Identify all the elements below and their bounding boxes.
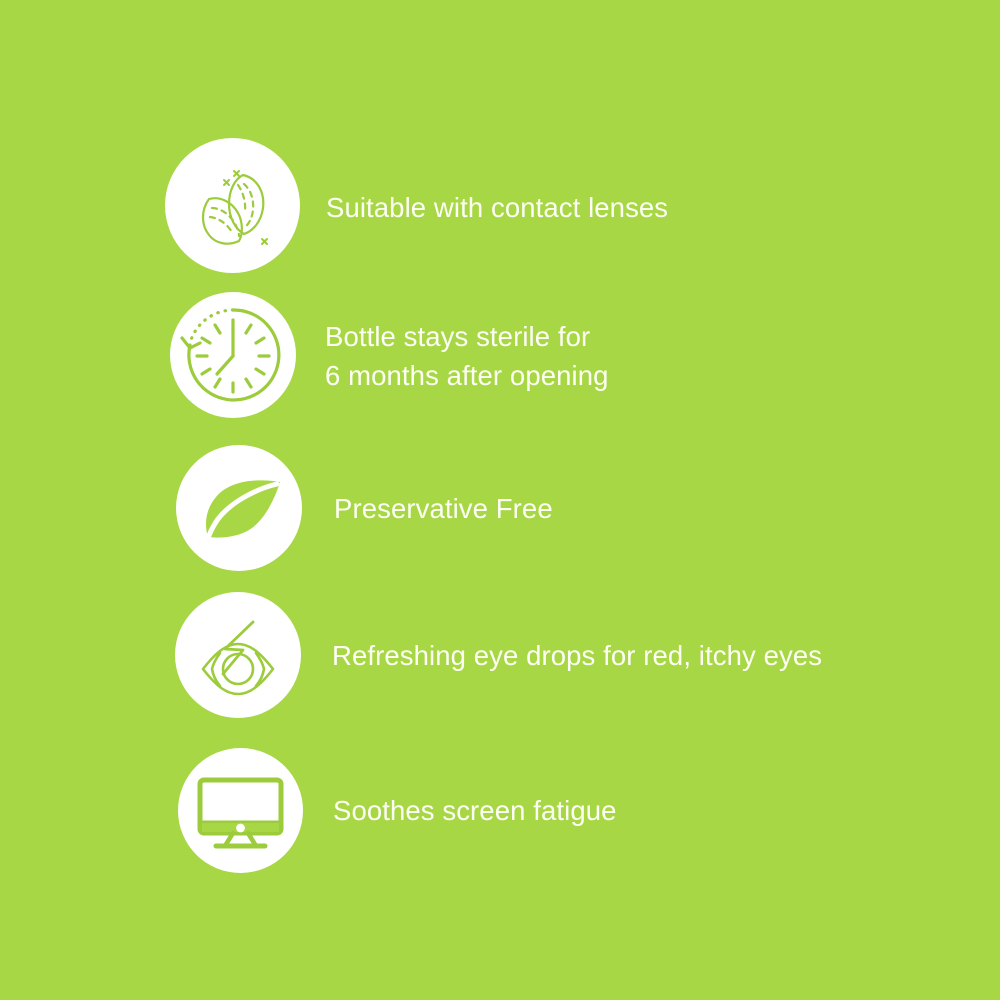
monitor-icon-badge bbox=[178, 748, 303, 873]
feature-label-sterile: Bottle stays sterile for 6 months after … bbox=[325, 317, 609, 395]
feature-row-sterile: Bottle stays sterile for 6 months after … bbox=[0, 285, 1000, 435]
contact-lenses-icon bbox=[165, 138, 300, 273]
feature-label-contact-lenses: Suitable with contact lenses bbox=[326, 188, 668, 227]
eye-lightning-icon-badge bbox=[175, 592, 301, 718]
eye-lightning-icon bbox=[175, 592, 301, 718]
clock-arrow-icon-badge bbox=[170, 292, 296, 418]
contact-lenses-icon-badge bbox=[165, 138, 300, 273]
feature-label-refreshing: Refreshing eye drops for red, itchy eyes bbox=[332, 636, 822, 675]
feature-row-screen-fatigue: Soothes screen fatigue bbox=[0, 745, 1000, 895]
feature-row-contact-lenses: Suitable with contact lenses bbox=[0, 130, 1000, 280]
feature-label-preservative-free: Preservative Free bbox=[334, 489, 553, 528]
feature-row-refreshing: Refreshing eye drops for red, itchy eyes bbox=[0, 590, 1000, 740]
leaf-icon-badge bbox=[176, 445, 302, 571]
feature-list: Suitable with contact lenses bbox=[0, 0, 1000, 1000]
monitor-icon bbox=[178, 748, 303, 873]
feature-label-screen-fatigue: Soothes screen fatigue bbox=[333, 791, 617, 830]
leaf-icon bbox=[176, 445, 302, 571]
clock-arrow-icon bbox=[170, 292, 296, 418]
feature-row-preservative-free: Preservative Free bbox=[0, 440, 1000, 590]
